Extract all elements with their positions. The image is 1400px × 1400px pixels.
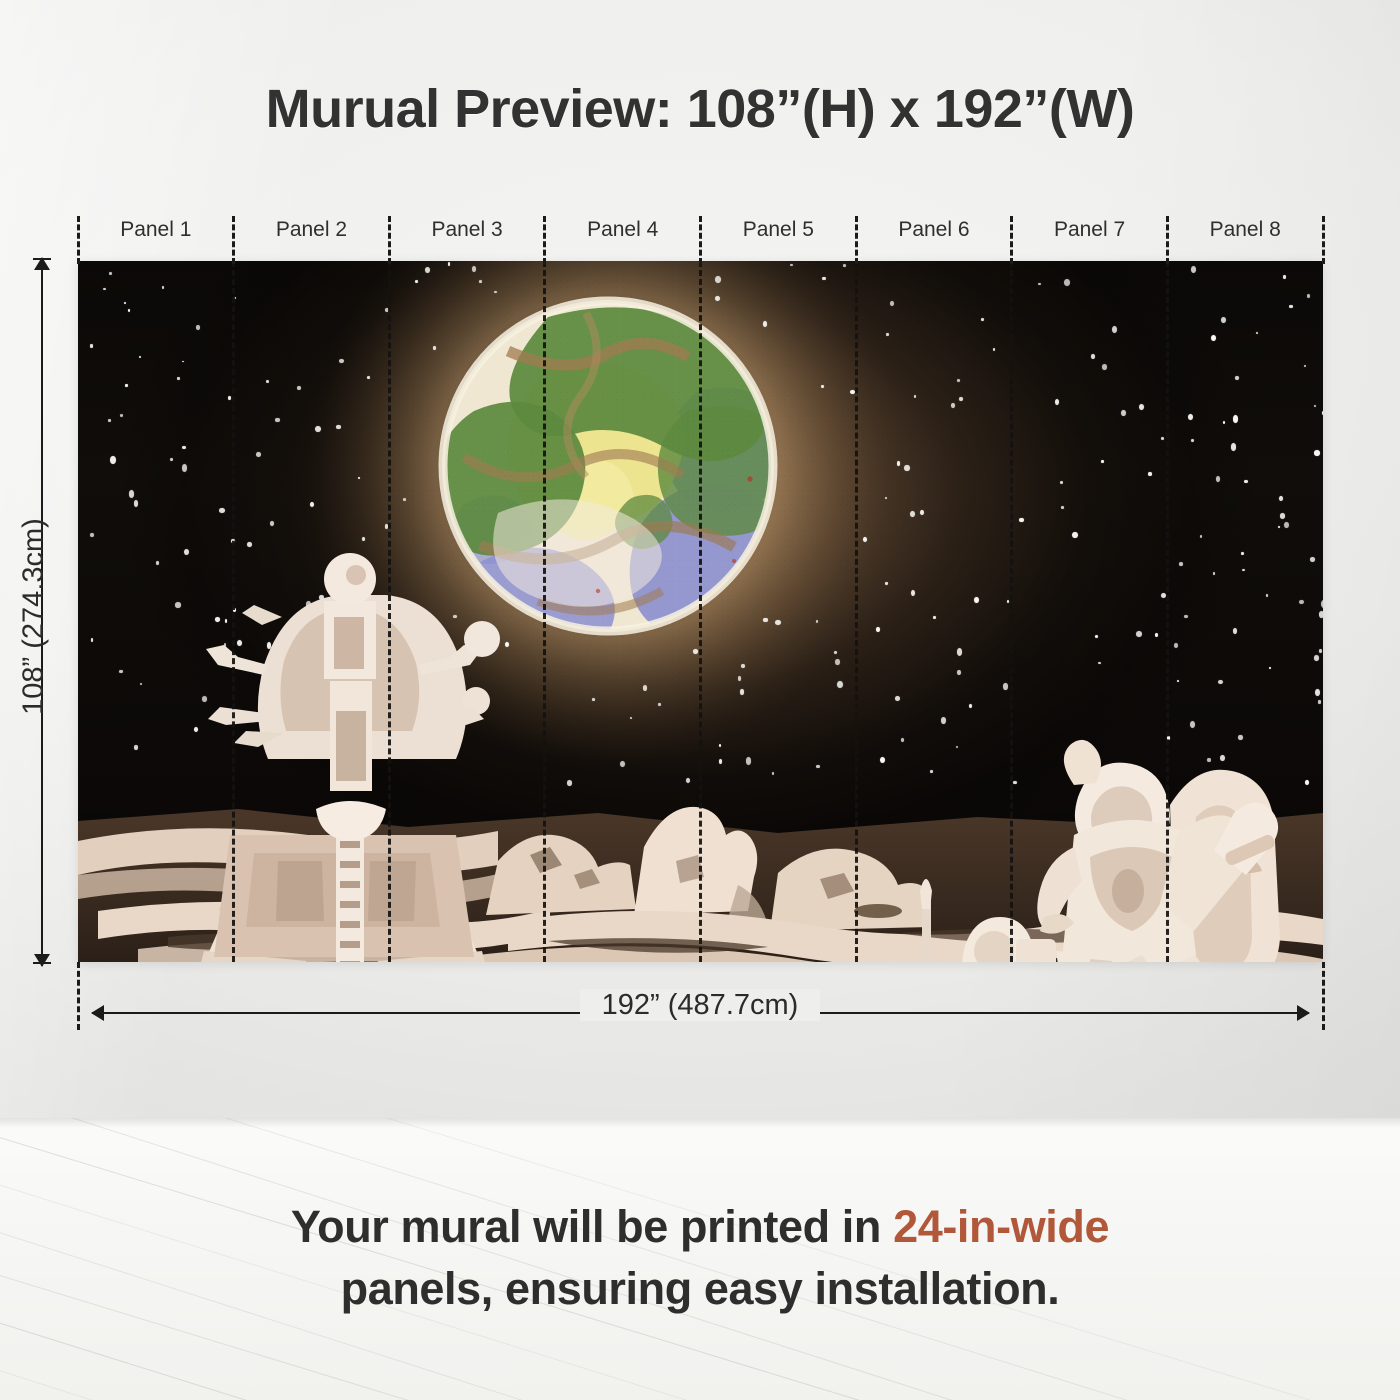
panel-tick-7: [1166, 216, 1169, 264]
mural-artwork: [78, 261, 1323, 962]
mural-preview-frame[interactable]: [78, 261, 1323, 962]
panel-label-4: Panel 4: [545, 216, 701, 256]
caption-prefix: Your mural will be printed in: [291, 1201, 893, 1252]
panel-label-2: Panel 2: [234, 216, 390, 256]
panel-divider-2: [388, 261, 391, 962]
width-dimension-text: 192” (487.7cm): [580, 989, 821, 1021]
panel-label-6: Panel 6: [856, 216, 1012, 256]
panel-divider-6: [1010, 261, 1013, 962]
caption-accent: 24-in-wide: [893, 1201, 1109, 1252]
page-title: Murual Preview: 108”(H) x 192”(W): [0, 78, 1400, 140]
panel-tick-8: [1322, 216, 1325, 264]
panel-tick-3: [543, 216, 546, 264]
caption-line-2: panels, ensuring easy installation.: [0, 1258, 1400, 1320]
height-dimension-label: 108” (274.3cm): [18, 487, 51, 747]
panel-label-5: Panel 5: [701, 216, 857, 256]
arrowhead-down-icon: [34, 954, 50, 967]
floor-plank-seam: [0, 1352, 1400, 1400]
width-extension-line-right: [1322, 962, 1325, 1030]
panel-tick-2: [388, 216, 391, 264]
caption-block: Your mural will be printed in 24-in-wide…: [0, 1196, 1400, 1320]
panel-divider-7: [1166, 261, 1169, 962]
arrowhead-up-icon: [34, 257, 50, 270]
panel-tick-0: [77, 216, 80, 264]
panel-divider-3: [543, 261, 546, 962]
panel-label-8: Panel 8: [1167, 216, 1323, 256]
panel-label-3: Panel 3: [389, 216, 545, 256]
width-extension-line-left: [77, 962, 80, 1030]
panel-divider-5: [855, 261, 858, 962]
panel-divider-4: [699, 261, 702, 962]
panel-tick-6: [1010, 216, 1013, 264]
panel-tick-5: [855, 216, 858, 264]
caption-line-1: Your mural will be printed in 24-in-wide: [0, 1196, 1400, 1258]
panel-tick-4: [699, 216, 702, 264]
width-dimension-label: 192” (487.7cm): [0, 989, 1400, 1022]
panel-label-1: Panel 1: [78, 216, 234, 256]
panel-divider-1: [232, 261, 235, 962]
panel-label-7: Panel 7: [1012, 216, 1168, 256]
panel-tick-1: [232, 216, 235, 264]
